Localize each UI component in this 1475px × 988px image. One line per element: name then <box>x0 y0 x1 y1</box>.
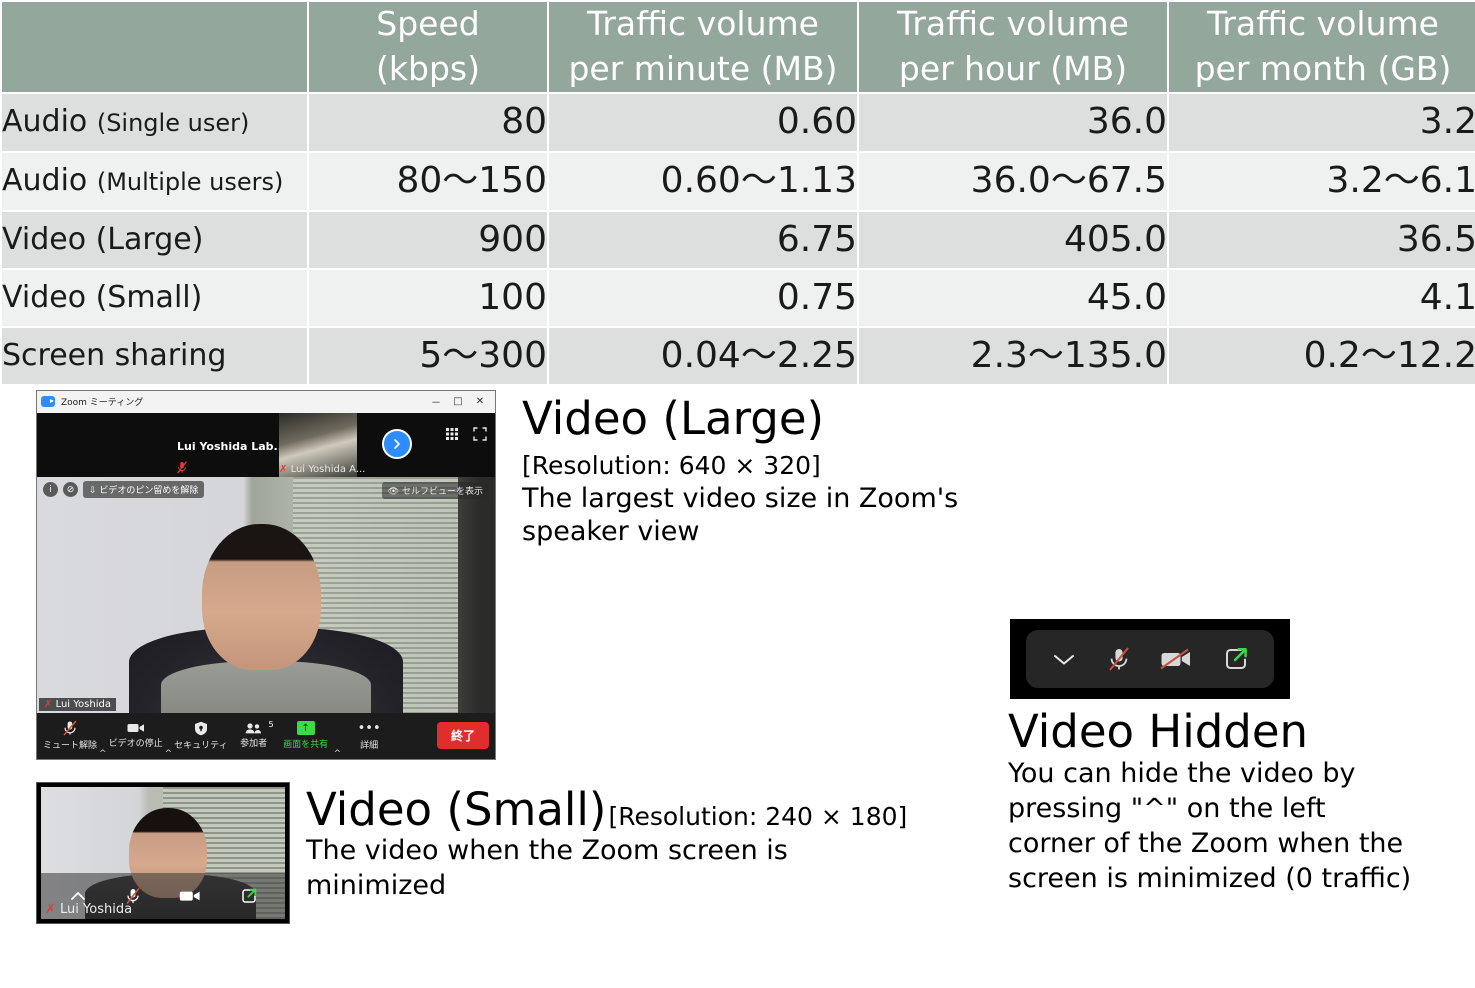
minimized-name: Lui Yoshida <box>60 902 132 917</box>
toolbar-more-button[interactable]: ••• 詳細 <box>343 721 395 751</box>
illustration-area: Zoom ミーティング － □ ✕ Lui Yoshida Lab... ✗ L… <box>0 386 1475 934</box>
table-header-blank <box>2 2 307 92</box>
caption-video-small: Video (Small) [Resolution: 240 × 180] Th… <box>306 786 986 903</box>
participant-thumbnail-name: Lui Yoshida A... <box>291 464 366 475</box>
toolbar-share-screen-label: 画面を共有 <box>283 737 328 750</box>
caption-video-hidden: Video Hidden You can hide the video by p… <box>1008 708 1475 896</box>
camera-icon[interactable] <box>179 889 201 903</box>
unpin-video-button[interactable]: ⇩ ビデオのピン留めを解除 <box>83 481 204 498</box>
zoom-window-title: Zoom ミーティング <box>61 395 425 408</box>
caption-video-small-resolution: [Resolution: 240 × 180] <box>608 802 907 831</box>
show-selfview-button[interactable]: 👁 セルフビューを表示 <box>382 482 489 499</box>
cell-per-hour: 36.0 <box>859 94 1167 151</box>
toolbar-security-button[interactable]: セキュリティ <box>174 721 227 751</box>
zoom-main-video-stage: i ⊘ ⇩ ビデオのピン留めを解除 👁 セルフビューを表示 ✗ Lui Yosh… <box>37 477 495 713</box>
share-screen-icon: ↑ <box>297 721 315 735</box>
table-row: Audio (Multiple users) 80〜150 0.60〜1.13 … <box>2 153 1475 210</box>
participants-count-badge: 5 <box>269 720 274 729</box>
caption-video-large-desc-line2: speaker view <box>522 516 1082 549</box>
zoom-window-titlebar: Zoom ミーティング － □ ✕ <box>37 391 495 413</box>
cell-per-hour: 2.3〜135.0 <box>859 328 1167 384</box>
caption-video-large-resolution: [Resolution: 640 × 320] <box>522 449 1082 483</box>
cell-per-minute: 0.60〜1.13 <box>549 153 857 210</box>
participants-icon <box>245 722 263 734</box>
cell-per-month: 36.5 <box>1169 212 1475 268</box>
row-label-sub: (Single user) <box>97 109 249 137</box>
minimized-video-content: ✗ Lui Yoshida <box>41 787 285 919</box>
caption-video-small-desc-line1: The video when the Zoom screen is <box>306 835 986 868</box>
microphone-muted-icon <box>63 720 77 736</box>
cell-per-hour: 45.0 <box>859 270 1167 326</box>
minimized-name-badge: ✗ Lui Yoshida <box>45 902 132 917</box>
toolbar-participants-label: 参加者 <box>240 736 267 749</box>
microphone-muted-icon <box>177 461 187 474</box>
close-button[interactable]: ✕ <box>469 396 491 407</box>
row-label-audio-multiple: Audio (Multiple users) <box>2 153 307 210</box>
table-header-row: Speed (kbps) Traffic volume per minute (… <box>2 2 1475 92</box>
grid-view-icon[interactable] <box>445 427 459 441</box>
table-row: Screen sharing 5〜300 0.04〜2.25 2.3〜135.0… <box>2 328 1475 384</box>
toolbar-unmute-label: ミュート解除 <box>43 738 97 751</box>
caption-video-hidden-title: Video Hidden <box>1008 708 1475 757</box>
share-options-caret-icon[interactable]: ^ <box>334 749 342 759</box>
chevron-down-icon[interactable] <box>1051 651 1077 667</box>
caption-video-large: Video (Large) [Resolution: 640 × 320] Th… <box>522 394 1082 549</box>
row-label-video-large: Video (Large) <box>2 212 307 268</box>
camera-muted-icon[interactable] <box>1160 648 1192 670</box>
more-icon: ••• <box>358 721 381 736</box>
end-meeting-button[interactable]: 終了 <box>437 722 489 749</box>
minimized-collapsed-toolbar <box>1026 630 1274 688</box>
cell-speed: 80〜150 <box>309 153 547 210</box>
camera-icon <box>127 722 145 734</box>
toolbar-share-screen-button[interactable]: ↑ 画面を共有 <box>280 721 332 750</box>
cell-per-minute: 6.75 <box>549 212 857 268</box>
shield-icon <box>194 721 208 736</box>
video-options-caret-icon[interactable]: ^ <box>165 749 173 759</box>
speaker-name-badge: ✗ Lui Yoshida <box>39 698 116 711</box>
cell-speed: 100 <box>309 270 547 326</box>
caption-video-hidden-desc-line2: pressing "^" on the left <box>1008 793 1475 826</box>
cell-per-month: 0.2〜12.2 <box>1169 328 1475 384</box>
caption-video-hidden-desc-line4: screen is minimized (0 traffic) <box>1008 863 1475 896</box>
table-header-per-minute: Traffic volume per minute (MB) <box>549 2 857 92</box>
table-row: Video (Small) 100 0.75 45.0 4.1 <box>2 270 1475 326</box>
row-label-video-small: Video (Small) <box>2 270 307 326</box>
caption-video-small-title: Video (Small) <box>306 786 606 833</box>
zoom-minimized-video-window: ✗ Lui Yoshida <box>36 782 290 924</box>
caption-video-large-title: Video (Large) <box>522 394 1082 444</box>
table-row: Audio (Single user) 80 0.60 36.0 3.2 <box>2 94 1475 151</box>
toolbar-stop-video-label: ビデオの停止 <box>109 736 163 749</box>
microphone-muted-icon: ✗ <box>44 699 52 710</box>
unpin-video-label: ビデオのピン留めを解除 <box>99 486 198 496</box>
participant-name-label: Lui Yoshida Lab... <box>177 440 286 453</box>
row-label-main: Audio <box>2 163 87 198</box>
participant-thumbnail-label: ✗ Lui Yoshida A... <box>279 464 365 475</box>
row-label-main: Video (Small) <box>2 280 202 315</box>
share-arrow-icon[interactable] <box>240 887 258 905</box>
encryption-shield-icon[interactable]: ⊘ <box>63 482 78 497</box>
show-selfview-label: セルフビューを表示 <box>402 487 483 497</box>
view-controls <box>445 427 487 441</box>
row-label-audio-single: Audio (Single user) <box>2 94 307 151</box>
cell-per-month: 3.2〜6.1 <box>1169 153 1475 210</box>
caption-video-large-desc-line1: The largest video size in Zoom's <box>522 483 1082 516</box>
cell-per-month: 3.2 <box>1169 94 1475 151</box>
row-label-main: Audio <box>2 104 87 139</box>
caption-video-hidden-desc-line1: You can hide the video by <box>1008 758 1475 791</box>
toolbar-stop-video-button[interactable]: ビデオの停止 <box>109 722 163 749</box>
microphone-muted-icon[interactable] <box>1108 646 1130 672</box>
chevron-right-icon <box>391 438 403 450</box>
caption-video-hidden-desc-line3: corner of the Zoom when the <box>1008 828 1475 861</box>
cell-per-hour: 405.0 <box>859 212 1167 268</box>
cell-per-minute: 0.75 <box>549 270 857 326</box>
speaker-name: Lui Yoshida <box>56 699 111 710</box>
fullscreen-icon[interactable] <box>473 427 487 441</box>
table-body: Audio (Single user) 80 0.60 36.0 3.2 Aud… <box>2 94 1475 384</box>
zoom-logo-icon <box>41 396 55 407</box>
chevron-up-icon[interactable] <box>69 890 87 902</box>
cell-per-minute: 0.60 <box>549 94 857 151</box>
table-row: Video (Large) 900 6.75 405.0 36.5 <box>2 212 1475 268</box>
zoom-meeting-window: Zoom ミーティング － □ ✕ Lui Yoshida Lab... ✗ L… <box>36 390 496 760</box>
row-label-screen-sharing: Screen sharing <box>2 328 307 384</box>
cell-per-month: 4.1 <box>1169 270 1475 326</box>
cell-speed: 900 <box>309 212 547 268</box>
table-header-per-hour: Traffic volume per hour (MB) <box>859 2 1167 92</box>
cell-speed: 80 <box>309 94 547 151</box>
row-label-main: Video (Large) <box>2 222 203 257</box>
maximize-button[interactable]: □ <box>447 396 469 407</box>
table-header: Speed (kbps) Traffic volume per minute (… <box>2 2 1475 92</box>
person-head <box>202 524 321 670</box>
microphone-muted-icon: ✗ <box>279 464 287 475</box>
zoom-participant-strip: Lui Yoshida Lab... ✗ Lui Yoshida A... <box>37 413 495 477</box>
toolbar-unmute-button[interactable]: ミュート解除 <box>43 720 97 751</box>
next-participants-button[interactable] <box>382 429 412 459</box>
toolbar-more-label: 詳細 <box>360 738 378 751</box>
cell-speed: 5〜300 <box>309 328 547 384</box>
caption-video-small-headline: Video (Small) [Resolution: 240 × 180] <box>306 786 986 833</box>
traffic-volume-table: Speed (kbps) Traffic volume per minute (… <box>0 0 1475 386</box>
toolbar-security-label: セキュリティ <box>174 738 227 751</box>
minimize-button[interactable]: － <box>425 394 447 409</box>
table-header-speed: Speed (kbps) <box>309 2 547 92</box>
cell-per-hour: 36.0〜67.5 <box>859 153 1167 210</box>
info-icon[interactable]: i <box>43 482 58 497</box>
row-label-sub: (Multiple users) <box>97 168 284 196</box>
video-hidden-toolbar-screenshot <box>1010 619 1290 699</box>
row-label-main: Screen sharing <box>2 338 226 373</box>
audio-options-caret-icon[interactable]: ^ <box>99 749 107 759</box>
share-arrow-icon[interactable] <box>1223 646 1249 672</box>
toolbar-participants-button[interactable]: 5 参加者 <box>228 722 280 749</box>
microphone-muted-icon: ✗ <box>45 902 56 917</box>
zoom-meeting-toolbar: ミュート解除 ^ ビデオの停止 ^ <box>37 713 495 759</box>
caption-video-small-desc-line2: minimized <box>306 870 986 903</box>
cell-per-minute: 0.04〜2.25 <box>549 328 857 384</box>
table-header-per-month: Traffic volume per month (GB) <box>1169 2 1475 92</box>
